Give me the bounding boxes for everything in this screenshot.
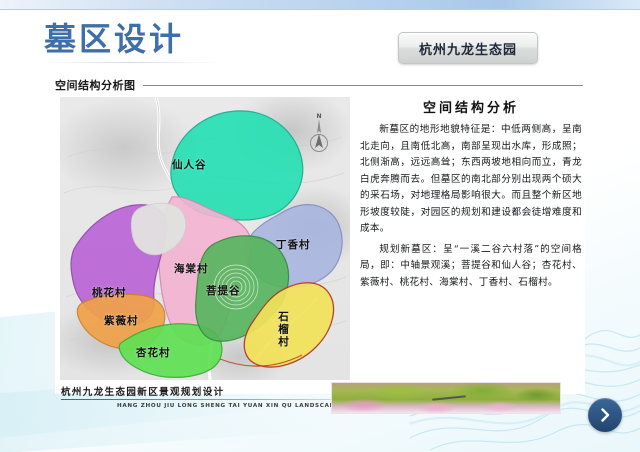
chevron-right-icon <box>597 407 613 423</box>
analysis-paragraph-1: 新墓区的地形地貌特征是：中低两侧高，呈南北走向，且南低北高，南部呈现出水库，形成… <box>360 122 582 238</box>
panel-header: 空间结构分析图 <box>55 76 585 94</box>
analysis-text-column: 空间结构分析 新墓区的地形地貌特征是：中低两侧高，呈南北走向，且南低北高，南部呈… <box>360 97 582 380</box>
page-title: 墓区设计 <box>44 14 184 60</box>
analysis-paragraph-2: 规划新墓区：呈“一溪二谷六村落”的空间格局，即：中轴景观溪；菩提谷和仙人谷；杏花… <box>360 242 582 292</box>
title-underline <box>40 62 220 63</box>
footer-title-cn: 杭州九龙生态园新区景观规划设计 <box>61 384 225 398</box>
footer-rule <box>61 399 339 400</box>
top-decor-bar <box>0 0 640 9</box>
project-logo-label: 杭州九龙生态园 <box>419 39 517 58</box>
project-logo-badge: 杭州九龙生态园 <box>398 32 538 64</box>
spatial-structure-map[interactable]: 仙人谷 丁香村 海棠村 桃花村 紫薇村 杏花村 菩提谷 石榴村 N <box>60 97 350 380</box>
panel-header-label: 空间结构分析图 <box>55 77 136 93</box>
photo-branch-detail <box>432 396 466 402</box>
content-panel: 空间结构分析图 <box>55 76 585 394</box>
analysis-heading: 空间结构分析 <box>360 97 582 116</box>
panel-header-rule <box>143 85 584 86</box>
slide-root: 墓区设计 杭州九龙生态园 空间结构分析图 <box>0 0 640 452</box>
slide-footer: 杭州九龙生态园新区景观规划设计 HANG ZHOU JIU LONG SHENG… <box>55 384 585 422</box>
next-slide-button[interactable] <box>588 398 622 432</box>
landscape-photo-strip <box>331 382 561 414</box>
north-arrow-icon: N <box>306 115 332 155</box>
